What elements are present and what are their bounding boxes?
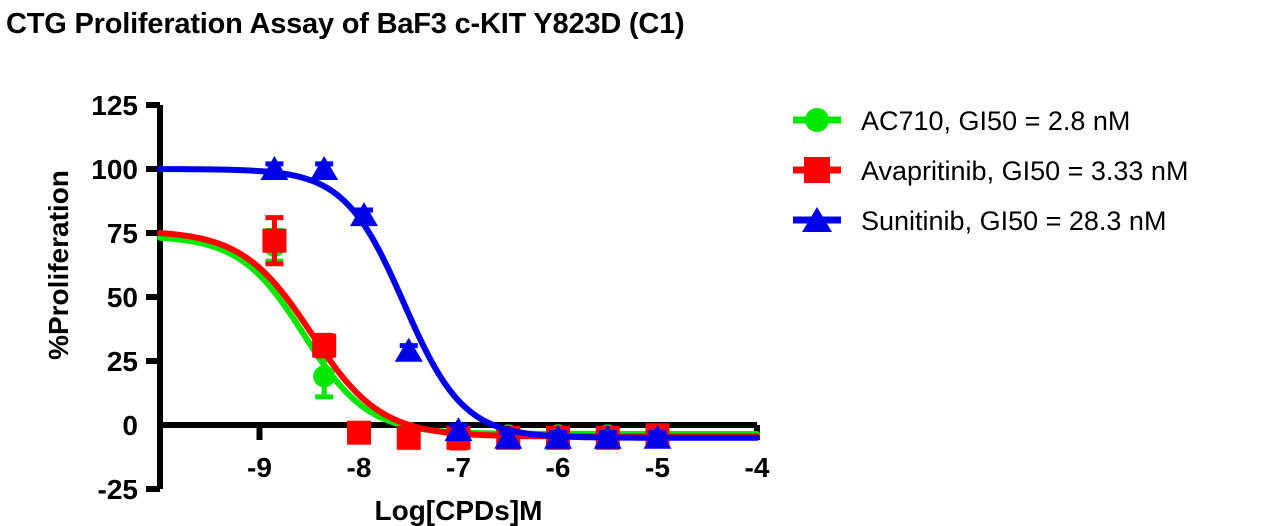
legend-label: AC710, GI50 = 2.8 nM: [861, 106, 1130, 136]
x-tick-label: -9: [247, 452, 272, 483]
data-point: [397, 426, 421, 450]
y-tick-label: 25: [107, 346, 138, 377]
y-tick-label: 125: [91, 90, 138, 121]
series-curve: [160, 233, 757, 437]
y-tick-label: 0: [122, 410, 138, 441]
x-tick-label: -7: [446, 452, 471, 483]
data-point: [310, 156, 338, 180]
y-tick-label: 50: [107, 282, 138, 313]
data-point: [262, 229, 286, 253]
legend-label: Sunitinib, GI50 = 28.3 nM: [861, 206, 1166, 236]
legend-label: Avapritinib, GI50 = 3.33 nM: [861, 156, 1188, 186]
legend: AC710, GI50 = 2.8 nMAvapritinib, GI50 = …: [793, 106, 1188, 236]
legend-marker-circle: [805, 108, 829, 132]
y-tick-label: 75: [107, 218, 138, 249]
y-tick-label: 100: [91, 154, 138, 185]
data-point: [347, 421, 371, 445]
series-3: [160, 156, 757, 449]
data-point: [312, 334, 336, 358]
x-tick-label: -4: [745, 452, 770, 483]
plot-canvas: -250255075100125-9-8-7-6-5-4Log[CPDs]M%P…: [0, 0, 1261, 526]
data-point: [260, 156, 288, 180]
x-axis-title: Log[CPDs]M: [375, 495, 543, 526]
data-point: [313, 365, 335, 387]
chart-figure: CTG Proliferation Assay of BaF3 c-KIT Y8…: [0, 0, 1261, 526]
legend-marker-square: [804, 157, 830, 183]
x-tick-label: -6: [546, 452, 571, 483]
y-axis-title: %Proliferation: [43, 170, 74, 360]
y-axis-ticks: -250255075100125: [91, 90, 160, 505]
legend-item[interactable]: Sunitinib, GI50 = 28.3 nM: [793, 206, 1166, 236]
series-curve: [160, 169, 757, 438]
x-tick-label: -5: [645, 452, 670, 483]
legend-item[interactable]: AC710, GI50 = 2.8 nM: [793, 106, 1130, 136]
series-2: [160, 218, 757, 450]
y-tick-label: -25: [98, 474, 138, 505]
legend-item[interactable]: Avapritinib, GI50 = 3.33 nM: [793, 156, 1188, 186]
x-tick-label: -8: [347, 452, 372, 483]
